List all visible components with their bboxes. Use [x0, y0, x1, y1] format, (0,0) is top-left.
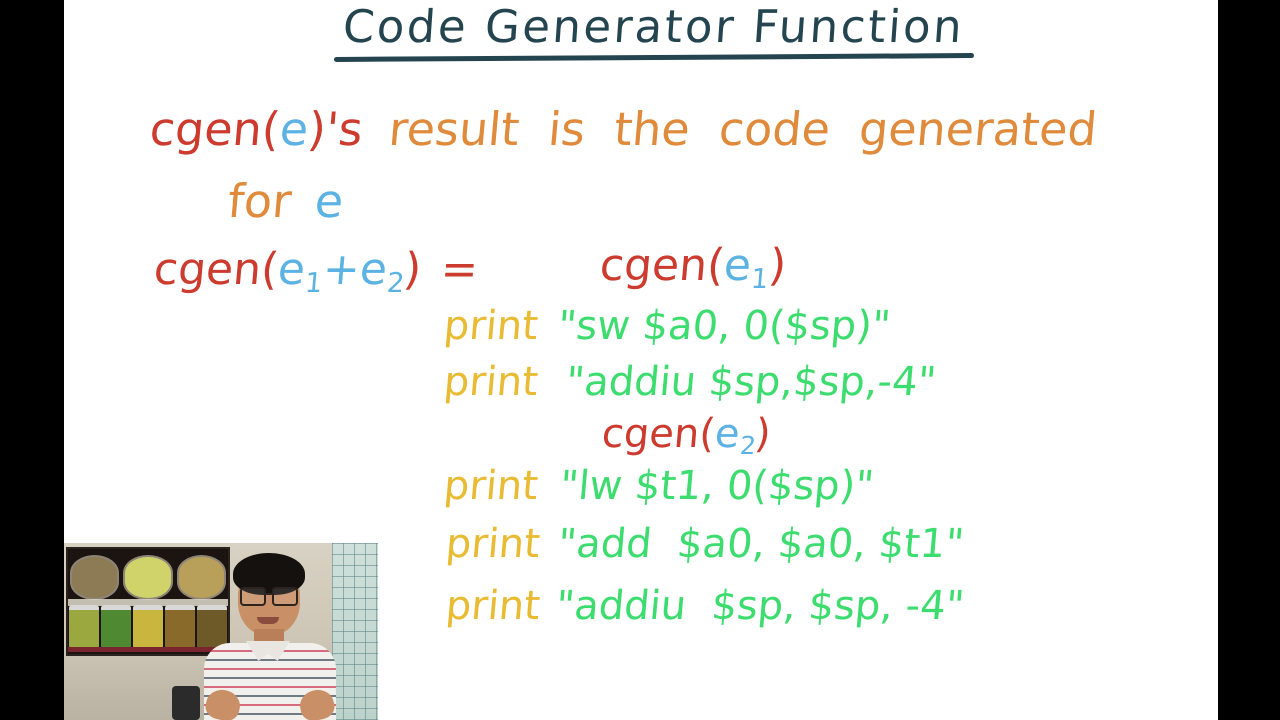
close-paren: ) [767, 244, 788, 288]
expr-e2: e [358, 248, 389, 292]
cgen-open-paren: cgen( [600, 414, 716, 454]
slide-line-rule-cgen-e2: cgen(e2) [602, 414, 771, 459]
definition-text: result is the code generated [387, 106, 1099, 152]
expr-e: e [278, 106, 310, 152]
title-underline [334, 53, 974, 62]
print-keyword: print [444, 586, 541, 626]
slide-line-print-addiu-1: print"addiu $sp,$sp,-4" [444, 362, 936, 402]
close-paren: ) [754, 414, 773, 454]
print-keyword: print [442, 306, 539, 346]
presenter-mouth [257, 617, 279, 624]
instruction-string: "addiu $sp, $sp, -4" [554, 586, 966, 626]
close-paren-possessive: )'s [306, 106, 365, 152]
slide-line-rule-lhs: cgen(e1+e2)= [154, 248, 478, 297]
cgen-open-paren: cgen( [598, 244, 726, 288]
instruction-string: "lw $t1, 0($sp)" [558, 466, 875, 506]
equals-sign: = [439, 248, 480, 292]
slide-line-definition-1: cgen(e)'sresult is the code generated [150, 106, 1097, 152]
print-keyword: print [442, 466, 539, 506]
instruction-string: "add $a0, $a0, $t1" [556, 524, 965, 564]
letterbox-bar-right [1218, 0, 1280, 720]
expr-e1: e [276, 248, 307, 292]
page-title: Code Generator Function [304, 2, 1004, 60]
print-keyword: print [442, 362, 539, 402]
cgen-open-paren: cgen( [152, 248, 280, 292]
expr-e1: e [722, 244, 753, 288]
instruction-string: "addiu $sp,$sp,-4" [564, 362, 937, 402]
slide-line-print-lw: print"lw $t1, 0($sp)" [444, 466, 874, 506]
microphone-stand [172, 686, 200, 720]
slide-line-print-add: print"add $a0, $a0, $t1" [446, 524, 964, 564]
print-keyword: print [444, 524, 541, 564]
cgen-open-paren: cgen( [148, 106, 282, 152]
instruction-string: "sw $a0, 0($sp)" [556, 306, 892, 346]
title-text: Code Generator Function [342, 2, 967, 52]
expr-e2: e [713, 414, 741, 454]
presenter-video-overlay[interactable] [64, 543, 378, 720]
letterbox-bar-left [0, 0, 64, 720]
glasses-icon [240, 587, 298, 602]
slide-line-print-addiu-2: print"addiu $sp, $sp, -4" [446, 586, 964, 626]
close-paren: ) [402, 248, 423, 292]
video-frame: Code Generator Function cgen(e)'sresult … [0, 0, 1280, 720]
slide-line-rule-cgen-e1: cgen(e1) [600, 244, 786, 293]
expr-e: e [313, 178, 345, 224]
for-keyword: for [226, 178, 293, 224]
presenter-figure [200, 551, 340, 720]
plus-operator: + [321, 248, 362, 292]
slide-line-definition-2: fore [228, 178, 344, 224]
slide-line-print-sw: print"sw $a0, 0($sp)" [444, 306, 890, 346]
